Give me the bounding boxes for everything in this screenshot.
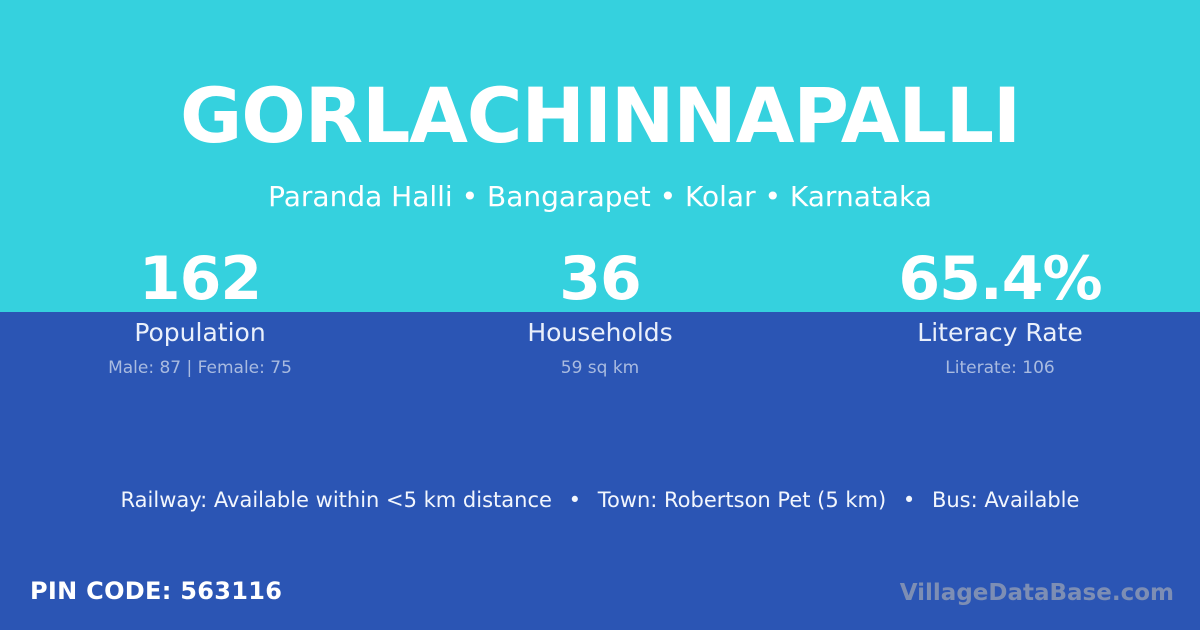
stat-population: 162 Population Male: 87 | Female: 75: [0, 246, 400, 380]
stat-label-population: Population: [0, 316, 400, 350]
fact-railway: Railway: Available within <5 km distance: [121, 488, 552, 512]
breadcrumb: Paranda Halli • Bangarapet • Kolar • Kar…: [0, 180, 1200, 214]
village-info-card: GORLACHINNAPALLI Paranda Halli • Bangara…: [0, 0, 1200, 630]
facts-line: Railway: Available within <5 km distance…: [0, 486, 1200, 514]
stat-label-literacy-rate: Literacy Rate: [800, 316, 1200, 350]
stat-sub-population: Male: 87 | Female: 75: [0, 356, 400, 380]
fact-separator-1: •: [559, 486, 591, 514]
fact-bus: Bus: Available: [932, 488, 1079, 512]
stat-sub-households: 59 sq km: [400, 356, 800, 380]
brand-watermark: VillageDataBase.com: [900, 578, 1174, 608]
stat-value-literacy-rate: 65.4%: [800, 246, 1200, 312]
stats-row: 162 Population Male: 87 | Female: 75 36 …: [0, 246, 1200, 380]
stat-sub-literacy-rate: Literate: 106: [800, 356, 1200, 380]
stat-literacy-rate: 65.4% Literacy Rate Literate: 106: [800, 246, 1200, 380]
pin-code: PIN CODE: 563116: [30, 576, 282, 606]
fact-town: Town: Robertson Pet (5 km): [598, 488, 887, 512]
stat-households: 36 Households 59 sq km: [400, 246, 800, 380]
fact-separator-2: •: [893, 486, 925, 514]
stat-value-households: 36: [400, 246, 800, 312]
page-title: GORLACHINNAPALLI: [0, 78, 1200, 154]
stat-value-population: 162: [0, 246, 400, 312]
stat-label-households: Households: [400, 316, 800, 350]
